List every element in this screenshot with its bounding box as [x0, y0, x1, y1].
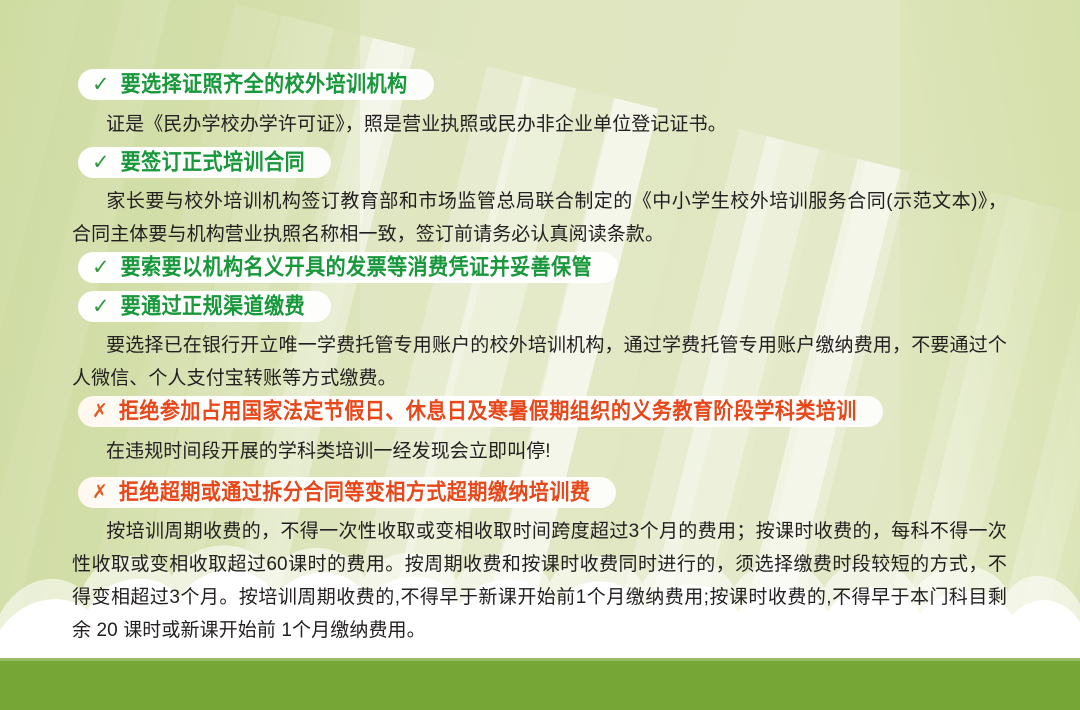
check-icon: ✓	[92, 74, 110, 95]
heading-pill: ✓ 要索要以机构名义开具的发票等消费凭证并妥善保管	[78, 252, 618, 283]
paragraph: 家长要与校外培训机构签订教育部和市场监管总局联合制定的《中小学生校外培训服务合同…	[72, 185, 1007, 251]
paragraph-text: 要选择已在银行开立唯一学费托管专用账户的校外培训机构，通过学费托管专用账户缴纳费…	[72, 335, 1007, 389]
cross-icon: ✗	[92, 483, 108, 502]
section-body-refuse-overpay-fees: 按培训周期收费的，不得一次性收取或变相收取时间跨度超过3个月的费用；按课时收费的…	[0, 515, 1007, 647]
section-heading-sign-formal-contract: ✓ 要签订正式培训合同	[0, 147, 331, 178]
heading-text: 要选择证照齐全的校外培训机构	[121, 73, 408, 95]
section-body-choose-licensed-institution: 证是《民办学校办学许可证》，照是营业执照或民办非企业单位登记证书。	[0, 108, 1007, 141]
paragraph-text: 按培训周期收费的，不得一次性收取或变相收取时间跨度超过3个月的费用；按课时收费的…	[72, 521, 1007, 641]
paragraph: 在违规时间段开展的学科类培训一经发现会立即叫停!	[72, 435, 1007, 468]
paragraph: 要选择已在银行开立唯一学费托管专用账户的校外培训机构，通过学费托管专用账户缴纳费…	[72, 329, 1007, 395]
section-heading-refuse-overpay-fees: ✗ 拒绝超期或通过拆分合同等变相方式超期缴纳培训费	[0, 477, 616, 508]
paragraph-wrap: 要选择已在银行开立唯一学费托管专用账户的校外培训机构，通过学费托管专用账户缴纳费…	[72, 329, 1007, 395]
paragraph-text: 在违规时间段开展的学科类培训一经发现会立即叫停!	[106, 441, 551, 462]
check-icon: ✓	[92, 152, 110, 173]
section-heading-demand-invoice: ✓ 要索要以机构名义开具的发票等消费凭证并妥善保管	[0, 252, 618, 283]
poster-content: ✓ 要选择证照齐全的校外培训机构 证是《民办学校办学许可证》，照是营业执照或民办…	[0, 0, 1080, 710]
heading-pill: ✗ 拒绝参加占用国家法定节假日、休息日及寒暑假期组织的义务教育阶段学科类培训	[78, 396, 883, 427]
paragraph: 证是《民办学校办学许可证》，照是营业执照或民办非企业单位登记证书。	[72, 108, 1007, 141]
section-body-refuse-holiday-training: 在违规时间段开展的学科类培训一经发现会立即叫停!	[0, 435, 1007, 468]
section-body-sign-formal-contract: 家长要与校外培训机构签订教育部和市场监管总局联合制定的《中小学生校外培训服务合同…	[0, 185, 1007, 251]
heading-text: 要签订正式培训合同	[121, 151, 306, 173]
paragraph-text: 家长要与校外培训机构签订教育部和市场监管总局联合制定的《中小学生校外培训服务合同…	[72, 191, 1007, 245]
paragraph: 按培训周期收费的，不得一次性收取或变相收取时间跨度超过3个月的费用；按课时收费的…	[72, 515, 1007, 647]
heading-pill: ✗ 拒绝超期或通过拆分合同等变相方式超期缴纳培训费	[78, 477, 616, 508]
paragraph-wrap: 家长要与校外培训机构签订教育部和市场监管总局联合制定的《中小学生校外培训服务合同…	[72, 185, 1007, 251]
heading-text: 要通过正规渠道缴费	[121, 295, 306, 317]
poster-root: ✓ 要选择证照齐全的校外培训机构 证是《民办学校办学许可证》，照是营业执照或民办…	[0, 0, 1080, 710]
heading-pill: ✓ 要签订正式培训合同	[78, 147, 331, 178]
heading-pill: ✓ 要选择证照齐全的校外培训机构	[78, 69, 434, 100]
section-body-pay-through-official-channel: 要选择已在银行开立唯一学费托管专用账户的校外培训机构，通过学费托管专用账户缴纳费…	[0, 329, 1007, 395]
heading-text: 拒绝超期或通过拆分合同等变相方式超期缴纳培训费	[119, 481, 591, 503]
section-heading-pay-through-official-channel: ✓ 要通过正规渠道缴费	[0, 291, 331, 322]
section-heading-choose-licensed-institution: ✓ 要选择证照齐全的校外培训机构	[0, 69, 434, 100]
paragraph-wrap: 按培训周期收费的，不得一次性收取或变相收取时间跨度超过3个月的费用；按课时收费的…	[72, 515, 1007, 647]
check-icon: ✓	[92, 296, 110, 317]
heading-pill: ✓ 要通过正规渠道缴费	[78, 291, 331, 322]
paragraph-wrap: 证是《民办学校办学许可证》，照是营业执照或民办非企业单位登记证书。	[72, 108, 1007, 141]
paragraph-wrap: 在违规时间段开展的学科类培训一经发现会立即叫停!	[72, 435, 1007, 468]
check-icon: ✓	[92, 257, 110, 278]
heading-text: 拒绝参加占用国家法定节假日、休息日及寒暑假期组织的义务教育阶段学科类培训	[119, 400, 857, 422]
cross-icon: ✗	[92, 402, 108, 421]
paragraph-text: 证是《民办学校办学许可证》，照是营业执照或民办非企业单位登记证书。	[106, 114, 727, 135]
heading-text: 要索要以机构名义开具的发票等消费凭证并妥善保管	[121, 256, 593, 278]
section-heading-refuse-holiday-training: ✗ 拒绝参加占用国家法定节假日、休息日及寒暑假期组织的义务教育阶段学科类培训	[0, 396, 883, 427]
